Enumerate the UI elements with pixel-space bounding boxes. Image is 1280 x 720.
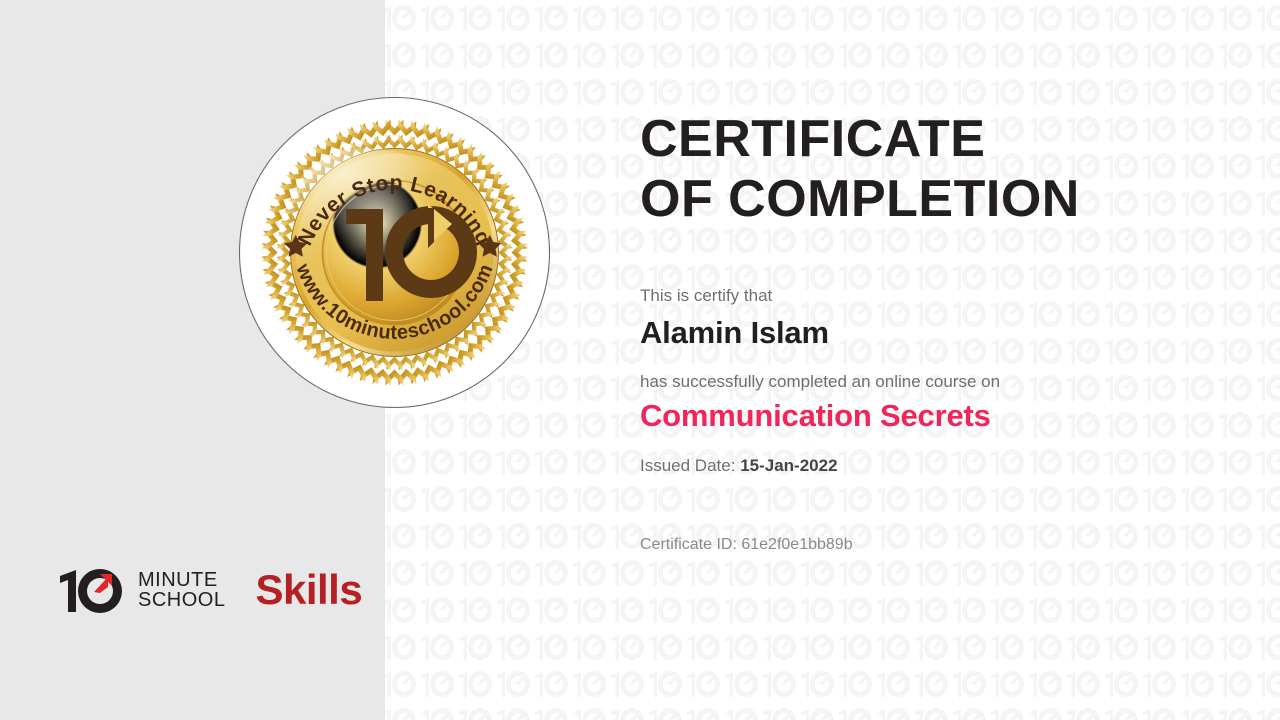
brand-word-minute: MINUTE	[138, 570, 225, 590]
course-lead-in-text: has successfully completed an online cou…	[640, 372, 1240, 392]
ten-minute-school-mark-icon	[56, 564, 132, 616]
recipient-name: Alamin Islam	[640, 315, 1240, 351]
issued-date-value: 15-Jan-2022	[740, 456, 837, 475]
certificate-content: CERTIFICATE OF COMPLETION This is certif…	[640, 110, 1240, 554]
intro-text: This is certify that	[640, 286, 1240, 306]
brand-wordmark: MINUTE SCHOOL	[138, 570, 225, 611]
product-name-skills: Skills	[255, 566, 362, 614]
certificate-id: Certificate ID: 61e2f0e1bb89b	[640, 536, 1240, 554]
issued-date-row: Issued Date: 15-Jan-2022	[640, 456, 1240, 476]
certificate-canvas: Never Stop Learning www.10minuteschool.c…	[0, 0, 1280, 720]
brand-word-school: SCHOOL	[138, 590, 225, 610]
title-line-2: OF COMPLETION	[640, 170, 1240, 230]
issued-date-label: Issued Date:	[640, 456, 735, 475]
page-title: CERTIFICATE OF COMPLETION	[640, 110, 1240, 230]
title-line-1: CERTIFICATE	[640, 110, 985, 168]
course-title: Communication Secrets	[640, 398, 1240, 434]
award-seal: Never Stop Learning www.10minuteschool.c…	[238, 96, 551, 409]
brand-logo: MINUTE SCHOOL Skills	[56, 561, 336, 619]
